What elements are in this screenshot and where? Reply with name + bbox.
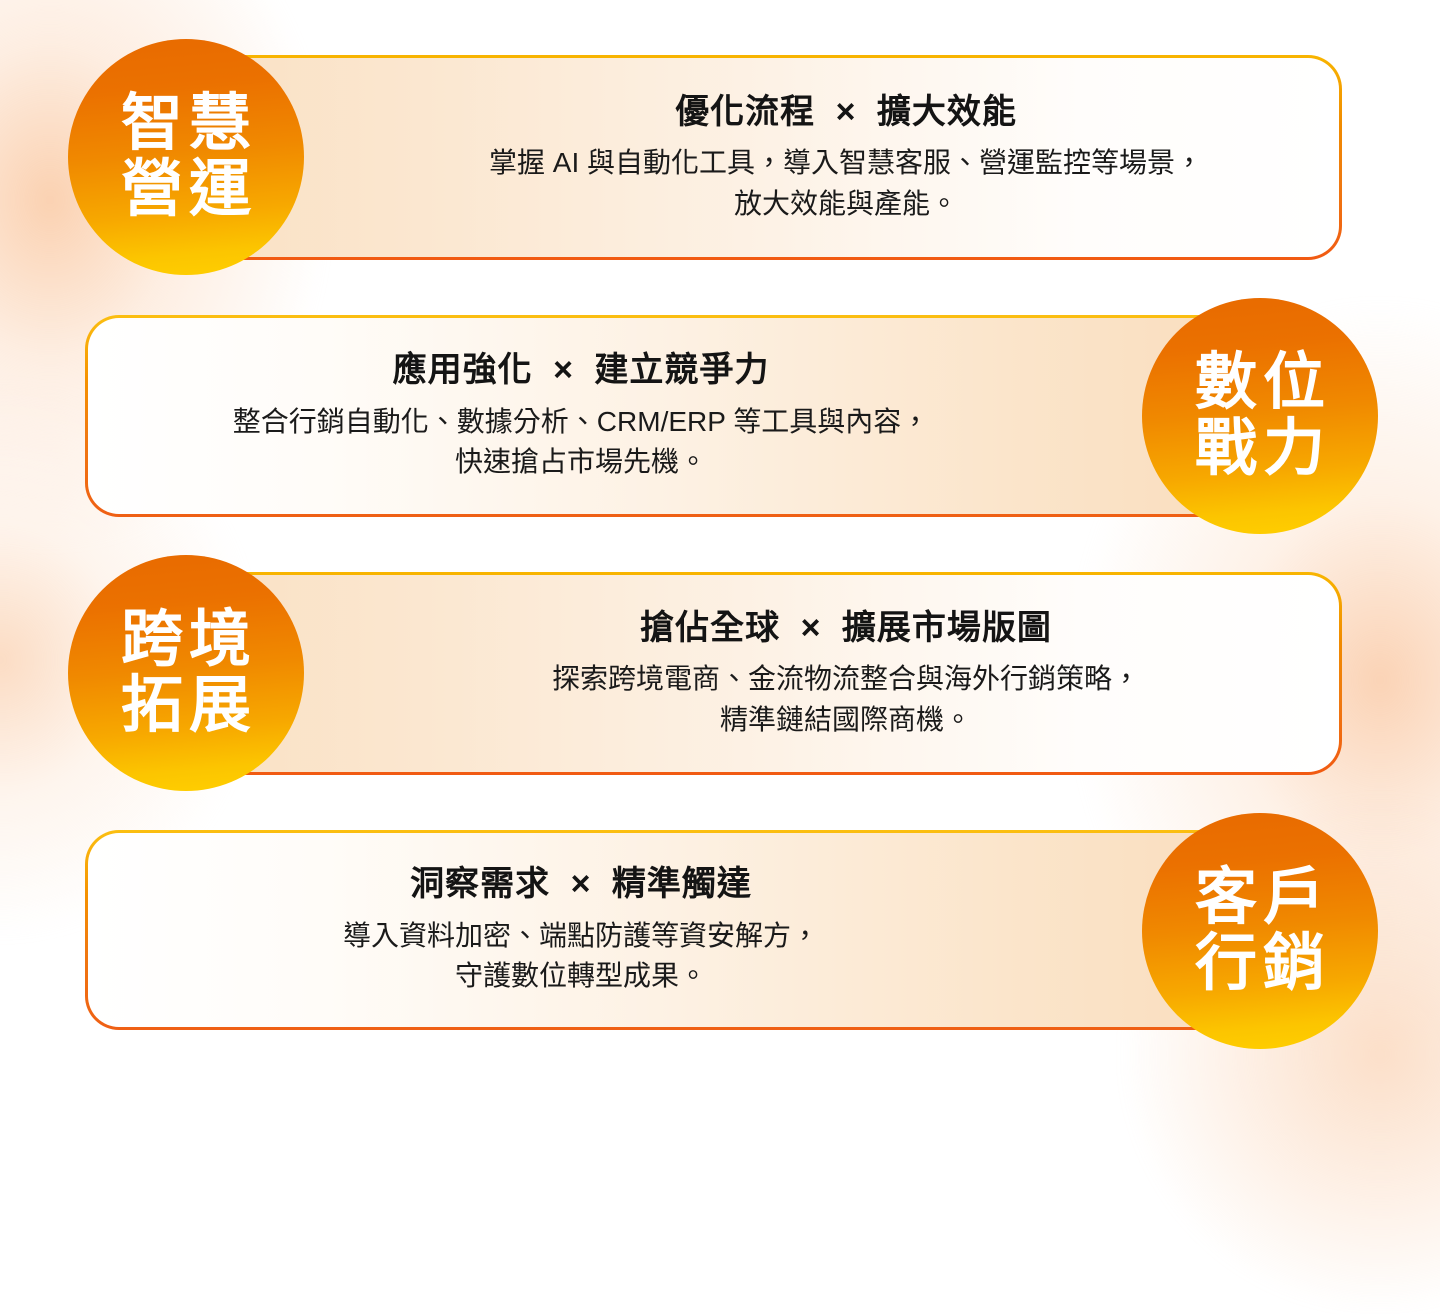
feature-card-3-title-left: 搶佔全球 (640, 609, 780, 647)
feature-badge-2[interactable]: 數位 戰力 (1142, 298, 1378, 534)
feature-card-1-body: 優化流程 × 擴大效能 掌握 AI 與自動化工具，導入智慧客服、營運監控等場景，… (163, 58, 1339, 257)
feature-badge-3-line-2: 拓展 (115, 673, 257, 739)
feature-card-2-description: 整合行銷自動化、數據分析、CRM/ERP 等工具與內容， 快速搶占市場先機。 (233, 402, 929, 483)
feature-card-3-description-line-2: 精準鏈結國際商機。 (552, 700, 1140, 741)
feature-badge-3[interactable]: 跨境 拓展 (68, 555, 304, 791)
feature-card-2-title-right: 建立競爭力 (594, 351, 769, 389)
title-separator-icon: × (836, 91, 857, 134)
title-separator-icon: × (553, 349, 574, 392)
feature-badge-4-line-2: 行銷 (1189, 931, 1331, 997)
feature-card-2-title-left: 應用強化 (393, 351, 533, 389)
feature-card-4-description: 導入資料加密、端點防護等資安解方， 守護數位轉型成果。 (343, 916, 819, 997)
feature-card-4-description-line-1: 導入資料加密、端點防護等資安解方， (343, 916, 819, 957)
title-separator-icon: × (801, 607, 822, 650)
feature-badge-4-line-1: 客戶 (1189, 865, 1331, 931)
feature-card-3-description: 探索跨境電商、金流物流整合與海外行銷策略， 精準鏈結國際商機。 (552, 659, 1140, 740)
feature-card-1-title-left: 優化流程 (675, 93, 815, 131)
feature-card-3-body: 搶佔全球 × 擴展市場版圖 探索跨境電商、金流物流整合與海外行銷策略， 精準鏈結… (163, 575, 1339, 772)
feature-card-3[interactable]: 搶佔全球 × 擴展市場版圖 探索跨境電商、金流物流整合與海外行銷策略， 精準鏈結… (160, 572, 1342, 775)
feature-badge-3-line-1: 跨境 (115, 607, 257, 673)
feature-card-1-description: 掌握 AI 與自動化工具，導入智慧客服、營運監控等場景， 放大效能與產能。 (489, 143, 1203, 224)
feature-card-2-description-line-2: 快速搶占市場先機。 (233, 442, 929, 483)
feature-card-4-description-line-2: 守護數位轉型成果。 (343, 956, 819, 997)
feature-badge-2-line-2: 戰力 (1189, 416, 1331, 482)
feature-card-1-description-line-2: 放大效能與產能。 (489, 184, 1203, 225)
feature-badge-1-line-2: 營運 (115, 157, 257, 223)
feature-card-4-title-right: 精準觸達 (612, 865, 752, 903)
feature-card-4-title-left: 洞察需求 (410, 865, 550, 903)
feature-badge-2-line-1: 數位 (1189, 350, 1331, 416)
feature-card-4-title: 洞察需求 × 精準觸達 (410, 863, 752, 906)
feature-card-1-title-right: 擴大效能 (877, 93, 1017, 131)
feature-card-3-title-right: 擴展市場版圖 (842, 609, 1052, 647)
feature-card-3-title: 搶佔全球 × 擴展市場版圖 (640, 607, 1052, 650)
feature-card-2-body: 應用強化 × 建立競爭力 整合行銷自動化、數據分析、CRM/ERP 等工具與內容… (88, 318, 1264, 514)
feature-card-1-description-line-1: 掌握 AI 與自動化工具，導入智慧客服、營運監控等場景， (489, 143, 1203, 184)
feature-card-2-description-line-1: 整合行銷自動化、數據分析、CRM/ERP 等工具與內容， (233, 402, 929, 443)
infographic-stage: 優化流程 × 擴大效能 掌握 AI 與自動化工具，導入智慧客服、營運監控等場景，… (0, 0, 1440, 1094)
feature-card-2-title: 應用強化 × 建立競爭力 (393, 349, 770, 392)
feature-card-2[interactable]: 應用強化 × 建立競爭力 整合行銷自動化、數據分析、CRM/ERP 等工具與內容… (85, 315, 1267, 517)
feature-badge-1-line-1: 智慧 (115, 91, 257, 157)
feature-card-1[interactable]: 優化流程 × 擴大效能 掌握 AI 與自動化工具，導入智慧客服、營運監控等場景，… (160, 55, 1342, 260)
feature-card-3-description-line-1: 探索跨境電商、金流物流整合與海外行銷策略， (552, 659, 1140, 700)
feature-badge-4[interactable]: 客戶 行銷 (1142, 813, 1378, 1049)
feature-card-4[interactable]: 洞察需求 × 精準觸達 導入資料加密、端點防護等資安解方， 守護數位轉型成果。 (85, 830, 1267, 1030)
feature-badge-1[interactable]: 智慧 營運 (68, 39, 304, 275)
feature-card-4-body: 洞察需求 × 精準觸達 導入資料加密、端點防護等資安解方， 守護數位轉型成果。 (88, 833, 1264, 1027)
feature-card-1-title: 優化流程 × 擴大效能 (675, 91, 1017, 134)
title-separator-icon: × (571, 863, 592, 906)
